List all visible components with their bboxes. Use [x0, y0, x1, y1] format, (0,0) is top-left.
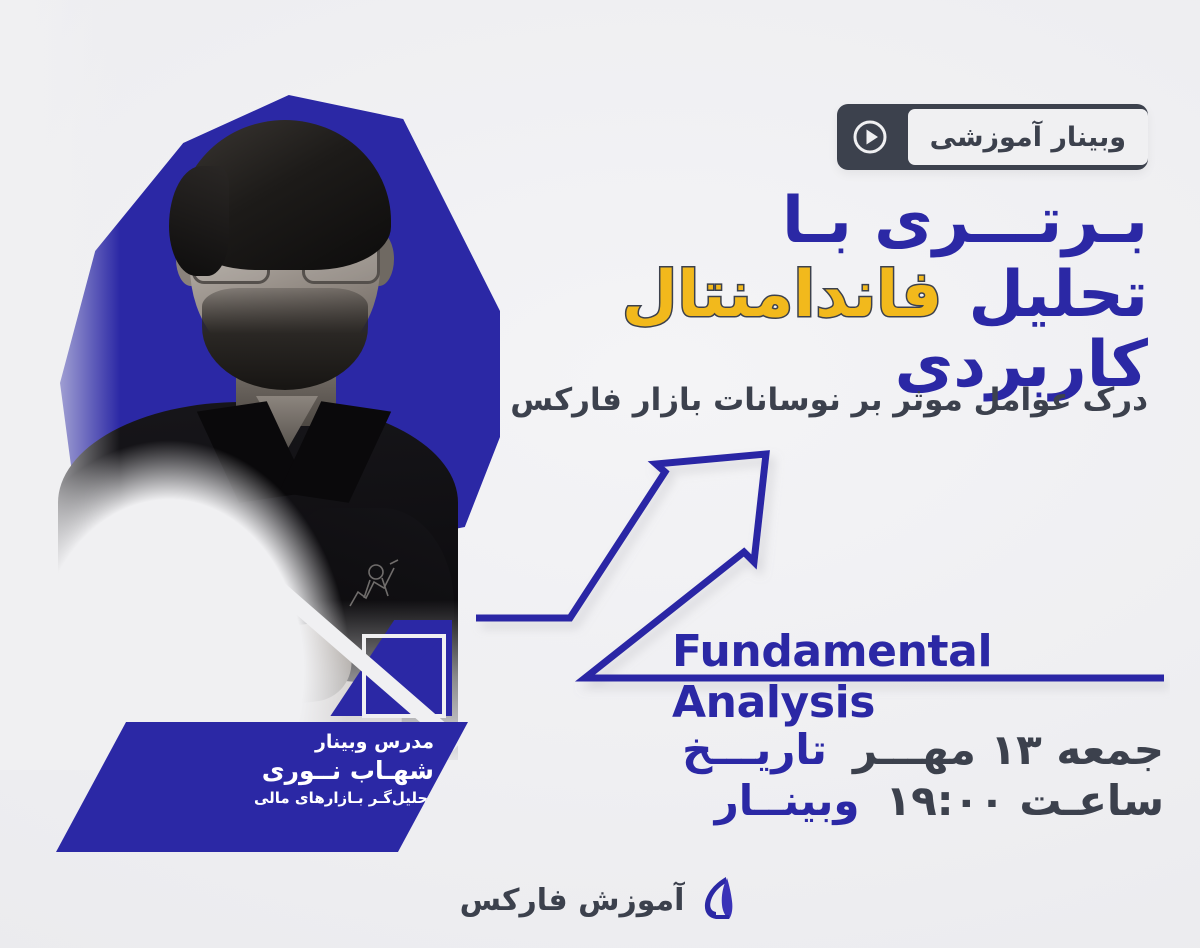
- webinar-badge: وبینار آموزشی: [837, 104, 1148, 170]
- schedule-time-value: ساعـت ۱۹:۰۰: [885, 777, 1164, 824]
- schedule-time-row: ساعـت ۱۹:۰۰ وبینــار: [631, 777, 1164, 824]
- presenter-name: شهـاب نــوری: [56, 755, 434, 786]
- forex-brand-mark-icon: [696, 874, 740, 926]
- schedule-date-label: تاریـــخ: [631, 726, 827, 773]
- webinar-poster: مدرس وبینار شهـاب نــوری تحلیل‌گـر بـازا…: [0, 0, 1200, 948]
- headline: بـرتـــری بـا تحلیل فاندامنتال کاربردی: [408, 188, 1148, 401]
- english-caption: Fundamental Analysis: [672, 626, 1200, 728]
- presenter-job-title: تحلیل‌گـر بـازارهای مالی: [56, 789, 434, 809]
- footer-brand: آموزش فارکس: [0, 874, 1200, 926]
- presenter-banner: مدرس وبینار شهـاب نــوری تحلیل‌گـر بـازا…: [56, 722, 468, 852]
- headline-line-1: بـرتـــری بـا: [408, 188, 1148, 256]
- webinar-badge-label: وبینار آموزشی: [908, 109, 1148, 165]
- footer-brand-name: آموزش فارکس: [460, 883, 685, 918]
- headline-line-2: تحلیل فاندامنتال کاربردی: [408, 260, 1148, 401]
- portrait-beard: [202, 288, 368, 390]
- schedule-date-value: جمعه ۱۳ مهـــر: [853, 726, 1164, 773]
- presenter-banner-content: مدرس وبینار شهـاب نــوری تحلیل‌گـر بـازا…: [56, 722, 468, 852]
- play-circle-icon: [837, 104, 903, 170]
- schedule-time-label: وبینــار: [663, 777, 859, 824]
- subtitle: درک عوامل موثر بر نوسانات بازار فارکس: [408, 382, 1148, 418]
- portrait-hair: [179, 120, 391, 270]
- schedule-date-row: جمعه ۱۳ مهـــر تاریـــخ: [631, 726, 1164, 773]
- schedule-block: جمعه ۱۳ مهـــر تاریـــخ ساعـت ۱۹:۰۰ وبین…: [631, 726, 1164, 824]
- headline-prefix: تحلیل: [968, 258, 1148, 332]
- headline-accent-word: فاندامنتال: [622, 258, 942, 332]
